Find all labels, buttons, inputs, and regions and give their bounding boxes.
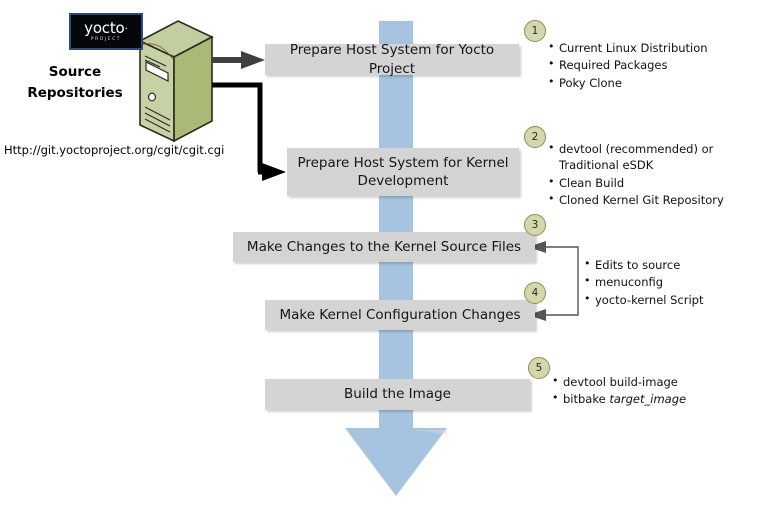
step-1-bullet-list: Current Linux Distribution Required Pack… [548, 40, 763, 92]
step-2-number: 2 [532, 131, 539, 143]
step-2-bullet-list: devtool (recommended) or Traditional eSD… [548, 141, 764, 209]
logo-subtitle: PROJECT [91, 38, 121, 42]
connector-server-to-step2 [212, 85, 286, 181]
logo-dot: · [125, 22, 128, 35]
list-item: Cloned Kernel Git Repository [548, 192, 764, 208]
list-item: Poky Clone [548, 75, 763, 91]
target-image-emphasis: target_image [609, 392, 686, 406]
step-1-number-badge: 1 [524, 20, 546, 42]
step-5-number-badge: 5 [528, 357, 550, 379]
source-label-line1: Source [10, 62, 140, 83]
step-3-box-label: Make Changes to the Kernel Source Files [247, 238, 521, 256]
source-label-line2: Repositories [10, 83, 140, 104]
step-2-box[interactable]: Prepare Host System for Kernel Developme… [287, 148, 519, 196]
list-item: bitbake target_image [552, 391, 752, 407]
step-4-number: 4 [532, 287, 539, 299]
list-item: Clean Build [548, 175, 764, 191]
feedback-loop-step3-step4 [528, 241, 578, 321]
source-repositories-label: Source Repositories [10, 62, 140, 104]
step-4-number-badge: 4 [524, 282, 546, 304]
source-repository-url: Http://git.yoctoproject.org/cgit/cgit.cg… [4, 143, 234, 157]
step-3-4-bullet-list: Edits to source menuconfig yocto-kernel … [584, 257, 764, 309]
yocto-project-logo: yocto· PROJECT [69, 13, 143, 50]
list-item: devtool build-image [552, 374, 752, 390]
step-5-box[interactable]: Build the Image [265, 379, 530, 410]
step-2-box-label: Prepare Host System for Kernel Developme… [287, 154, 519, 190]
step-3-number: 3 [532, 219, 539, 231]
step-2-number-badge: 2 [524, 126, 546, 148]
list-item: Required Packages [548, 57, 763, 73]
step-1-number: 1 [532, 25, 539, 37]
step-4-box-label: Make Kernel Configuration Changes [279, 306, 520, 324]
list-item: devtool (recommended) or Traditional eSD… [548, 141, 764, 174]
step-5-box-label: Build the Image [344, 385, 451, 403]
list-item: menuconfig [584, 274, 764, 290]
server-tower-icon [140, 21, 212, 141]
step-1-box-label: Prepare Host System for Yocto Project [265, 41, 519, 77]
connector-server-to-step1 [212, 51, 265, 69]
diagram-canvas: yocto· PROJECT Source Repositories Http:… [0, 0, 769, 517]
list-item: Edits to source [584, 257, 764, 273]
step-1-box[interactable]: Prepare Host System for Yocto Project [265, 44, 519, 75]
step-5-number: 5 [536, 362, 543, 374]
list-item: Current Linux Distribution [548, 40, 763, 56]
list-item: yocto-kernel Script [584, 292, 764, 308]
step-4-box[interactable]: Make Kernel Configuration Changes [265, 300, 535, 330]
step-5-bullet-list: devtool build-image bitbake target_image [552, 374, 752, 409]
step-3-box[interactable]: Make Changes to the Kernel Source Files [233, 232, 535, 262]
logo-wordmark: yocto· [84, 21, 128, 36]
step-3-number-badge: 3 [524, 214, 546, 236]
